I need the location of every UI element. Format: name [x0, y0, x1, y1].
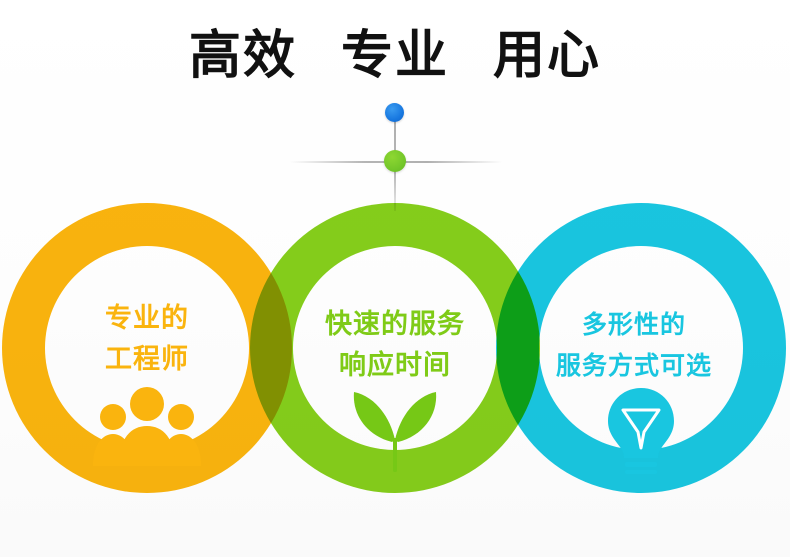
ring-service-modes	[496, 203, 786, 493]
ring-engineers	[2, 203, 292, 493]
venn-ring-group	[0, 0, 790, 557]
infographic-poster: 高效专业用心 专业的 工程师 快速的服务 响应时间 多形性的 服务方式可选	[0, 0, 790, 557]
